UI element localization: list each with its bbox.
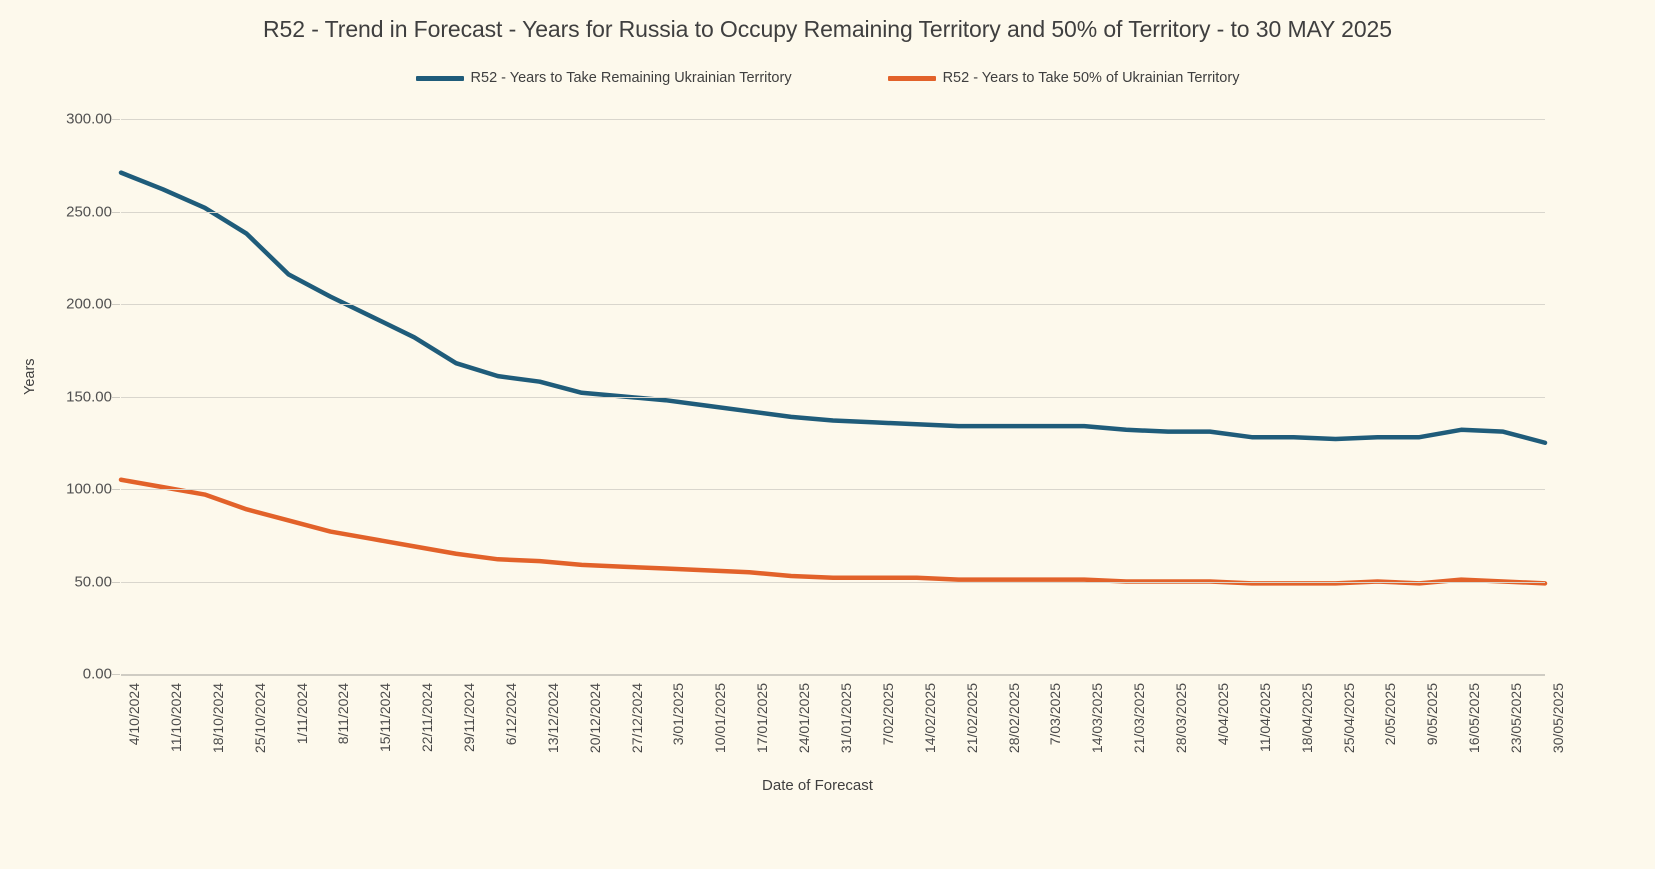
x-axis-tick-label: 11/04/2025 bbox=[1257, 683, 1273, 752]
x-axis-tick-label: 30/05/2025 bbox=[1550, 683, 1566, 753]
x-axis-tick-label: 23/05/2025 bbox=[1508, 683, 1524, 753]
plot-area bbox=[121, 119, 1545, 674]
y-axis-tick-label: 150.00 bbox=[0, 388, 112, 405]
x-axis-tick-label: 28/02/2025 bbox=[1006, 683, 1022, 753]
series-line-0 bbox=[121, 173, 1545, 443]
x-axis-tick-label: 15/11/2024 bbox=[377, 683, 393, 752]
x-axis-tick-label: 4/04/2025 bbox=[1215, 683, 1231, 745]
y-axis-tick-mark bbox=[112, 582, 120, 583]
x-axis-tick-label: 24/01/2025 bbox=[796, 683, 812, 753]
gridline bbox=[121, 119, 1545, 120]
y-axis-tick-label: 100.00 bbox=[0, 481, 112, 498]
legend-swatch-remaining-territory bbox=[416, 76, 464, 81]
series-line-1 bbox=[121, 480, 1545, 584]
x-axis-tick-label: 3/01/2025 bbox=[670, 683, 686, 745]
gridline bbox=[121, 582, 1545, 583]
x-axis-tick-label: 11/10/2024 bbox=[168, 683, 184, 752]
x-axis-tick-label: 31/01/2025 bbox=[838, 683, 854, 753]
chart-container: R52 - Trend in Forecast - Years for Russ… bbox=[0, 0, 1655, 869]
chart-legend: R52 - Years to Take Remaining Ukrainian … bbox=[0, 70, 1655, 86]
x-axis-tick-label: 25/10/2024 bbox=[252, 683, 268, 753]
x-axis-tick-label: 14/02/2025 bbox=[922, 683, 938, 753]
x-axis-tick-label: 13/12/2024 bbox=[545, 683, 561, 753]
y-axis-tick-mark bbox=[112, 397, 120, 398]
gridline bbox=[121, 304, 1545, 305]
y-axis-tick-mark bbox=[112, 304, 120, 305]
x-axis-tick-label: 8/11/2024 bbox=[335, 683, 351, 744]
x-axis-tick-label: 6/12/2024 bbox=[503, 683, 519, 745]
gridline bbox=[121, 397, 1545, 398]
x-axis-tick-label: 29/11/2024 bbox=[461, 683, 477, 752]
x-axis-tick-label: 27/12/2024 bbox=[629, 683, 645, 753]
x-axis-tick-label: 28/03/2025 bbox=[1173, 683, 1189, 753]
legend-swatch-half-territory bbox=[888, 76, 936, 81]
x-axis-tick-label: 21/03/2025 bbox=[1131, 683, 1147, 753]
x-axis-tick-label: 18/04/2025 bbox=[1299, 683, 1315, 753]
y-axis-tick-label: 250.00 bbox=[0, 203, 112, 220]
y-axis-tick-mark bbox=[112, 674, 120, 675]
x-axis-tick-label: 21/02/2025 bbox=[964, 683, 980, 753]
legend-label-remaining-territory: R52 - Years to Take Remaining Ukrainian … bbox=[471, 70, 792, 86]
y-axis-tick-label: 0.00 bbox=[0, 666, 112, 683]
x-axis-tick-label: 10/01/2025 bbox=[712, 683, 728, 753]
x-axis-title-text: Date of Forecast bbox=[762, 777, 873, 794]
x-axis-tick-label: 20/12/2024 bbox=[587, 683, 603, 753]
x-axis-tick-label: 17/01/2025 bbox=[754, 683, 770, 753]
x-axis-tick-label: 1/11/2024 bbox=[294, 683, 310, 744]
legend-item-remaining-territory[interactable]: R52 - Years to Take Remaining Ukrainian … bbox=[416, 70, 792, 86]
x-axis-tick-label: 25/04/2025 bbox=[1341, 683, 1357, 753]
y-axis-tick-mark bbox=[112, 489, 120, 490]
gridline bbox=[121, 212, 1545, 213]
legend-item-half-territory[interactable]: R52 - Years to Take 50% of Ukrainian Ter… bbox=[888, 70, 1240, 86]
x-axis-tick-label: 2/05/2025 bbox=[1382, 683, 1398, 745]
x-axis-tick-label: 16/05/2025 bbox=[1466, 683, 1482, 753]
x-axis-tick-label: 7/02/2025 bbox=[880, 683, 896, 745]
legend-label-half-territory: R52 - Years to Take 50% of Ukrainian Ter… bbox=[943, 70, 1240, 86]
y-axis-tick-mark bbox=[112, 212, 120, 213]
x-axis-tick-label: 9/05/2025 bbox=[1424, 683, 1440, 745]
x-axis-tick-label: 14/03/2025 bbox=[1089, 683, 1105, 753]
y-axis-tick-label: 200.00 bbox=[0, 296, 112, 313]
y-axis-tick-label: 300.00 bbox=[0, 111, 112, 128]
x-axis-tick-label: 7/03/2025 bbox=[1047, 683, 1063, 745]
x-axis-tick-label: 18/10/2024 bbox=[210, 683, 226, 753]
gridline bbox=[121, 489, 1545, 490]
y-axis-tick-label: 50.00 bbox=[0, 573, 112, 590]
x-axis-tick-label: 22/11/2024 bbox=[419, 683, 435, 752]
x-axis-title: Date of Forecast bbox=[0, 777, 1655, 794]
y-axis-tick-mark bbox=[112, 119, 120, 120]
gridline bbox=[121, 674, 1545, 676]
x-axis-tick-label: 4/10/2024 bbox=[126, 683, 142, 745]
chart-title: R52 - Trend in Forecast - Years for Russ… bbox=[0, 16, 1655, 43]
